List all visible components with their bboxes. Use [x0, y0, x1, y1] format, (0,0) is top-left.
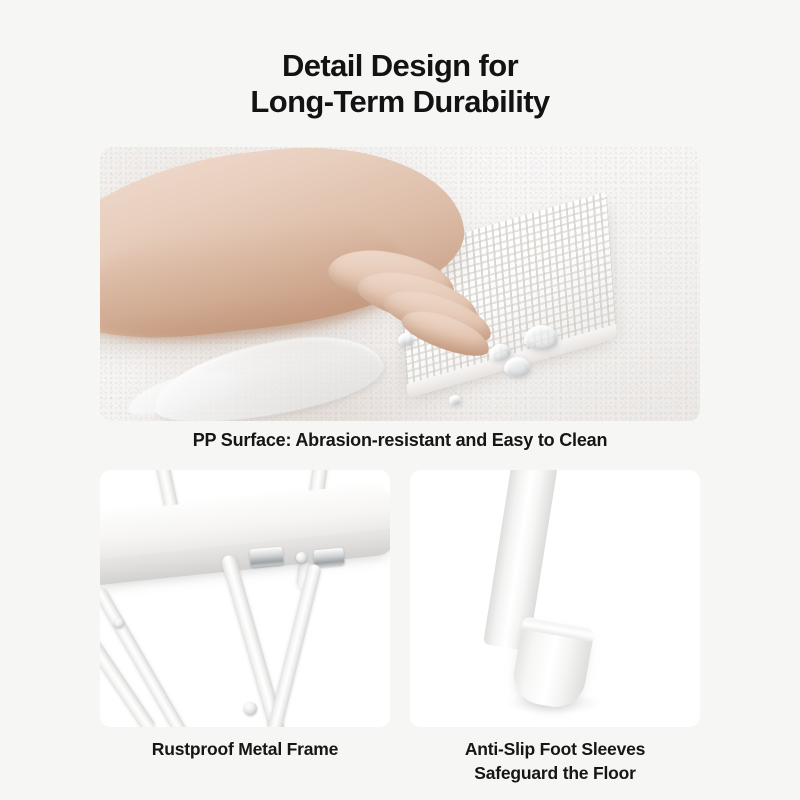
feature-image-metal-frame [100, 470, 390, 727]
feature-image-pp-surface [100, 147, 700, 421]
water-droplet [504, 357, 530, 377]
feature-caption-line-2: Safeguard the Floor [410, 761, 700, 785]
foot-sleeve-photo [410, 470, 700, 727]
feature-caption-line-1: PP Surface: Abrasion-resistant and Easy … [100, 428, 700, 452]
frame-rivet-upper [114, 618, 124, 628]
feature-caption-line-1: Anti-Slip Foot Sleeves [410, 737, 700, 761]
frame-rivet-cross [244, 702, 257, 715]
page-title-line-1: Detail Design for [0, 48, 800, 84]
feature-caption-line-1: Rustproof Metal Frame [100, 737, 390, 761]
hinge-bracket-left [249, 547, 283, 568]
metal-frame-photo [100, 470, 390, 727]
hinge-bracket-right [313, 548, 344, 568]
seat-panel-top-face [100, 482, 390, 560]
feature-caption-pp-surface: PP Surface: Abrasion-resistant and Easy … [100, 428, 700, 452]
feature-caption-metal-frame: Rustproof Metal Frame [100, 737, 390, 761]
frame-tube-cross-brace [100, 586, 188, 727]
water-droplet [449, 395, 461, 405]
foot-sleeve-lip [522, 616, 595, 641]
water-droplet [524, 325, 558, 350]
feature-caption-foot-sleeves: Anti-Slip Foot Sleeves Safeguard the Flo… [410, 737, 700, 785]
page-title: Detail Design for Long-Term Durability [0, 48, 800, 120]
pp-surface-photo [100, 147, 700, 421]
seat-panel [100, 482, 390, 586]
feature-image-foot-sleeves [410, 470, 700, 727]
water-droplet [398, 333, 414, 346]
page-title-line-2: Long-Term Durability [0, 84, 800, 120]
hinge-rivet-seat [296, 552, 307, 563]
